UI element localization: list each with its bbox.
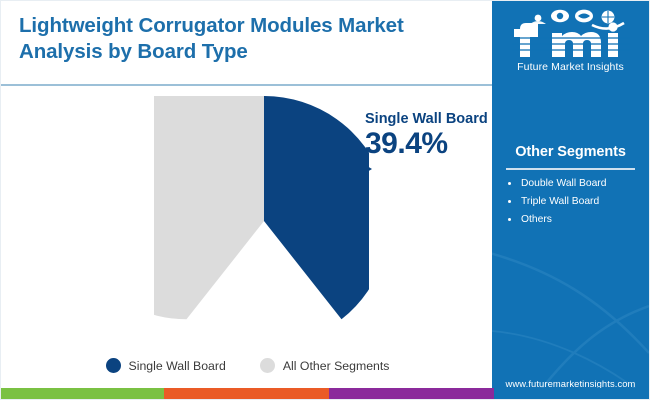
title-divider [1,84,494,86]
legend-swatch-icon [106,358,121,373]
list-item: Double Wall Board [504,177,637,191]
brand-panel: Future Market Insights Other Segments Do… [492,1,649,400]
pie-chart-svg [154,96,369,346]
callout-value: 39.4% [365,129,495,159]
logo-tagline: Future Market Insights [492,61,649,73]
brand-logo: Future Market Insights [492,7,649,73]
legend-label: Single Wall Board [129,359,226,373]
pie-slice-all-other-segments [154,96,264,319]
infographic-canvas: Lightweight Corrugator Modules Market An… [0,0,650,400]
chart-legend: Single Wall Board All Other Segments [1,358,494,373]
legend-item-all-other-segments: All Other Segments [260,358,390,373]
page-title: Lightweight Corrugator Modules Market An… [19,13,468,65]
legend-item-single-wall-board: Single Wall Board [106,358,226,373]
fmi-logo-icon [508,7,634,59]
other-segments-heading: Other Segments [504,144,637,160]
list-item-label: Others [521,214,552,225]
bullet-icon [508,200,511,203]
other-segments-panel: Other Segments Double Wall Board Triple … [492,144,649,231]
pie-slice-single-wall-board [264,96,369,319]
legend-label: All Other Segments [283,359,390,373]
list-item-label: Double Wall Board [521,178,606,189]
other-segments-list: Double Wall Board Triple Wall Board Othe… [504,177,637,227]
callout-arrow-icon [326,161,372,177]
strip-segment-purple [329,388,494,399]
list-item: Others [504,213,637,227]
pie-chart [154,96,369,346]
strip-segment-blue [494,388,650,399]
strip-segment-orange [164,388,329,399]
list-item-label: Triple Wall Board [521,196,599,207]
callout-label: Single Wall Board [365,111,495,128]
title-area: Lightweight Corrugator Modules Market An… [1,1,494,86]
bottom-color-strip [1,388,650,399]
strip-segment-green [1,388,164,399]
list-item: Triple Wall Board [504,195,637,209]
other-segments-divider [506,168,635,170]
bullet-icon [508,218,511,221]
legend-swatch-icon [260,358,275,373]
callout-single-wall-board: Single Wall Board 39.4% [365,111,495,159]
bullet-icon [508,182,511,185]
